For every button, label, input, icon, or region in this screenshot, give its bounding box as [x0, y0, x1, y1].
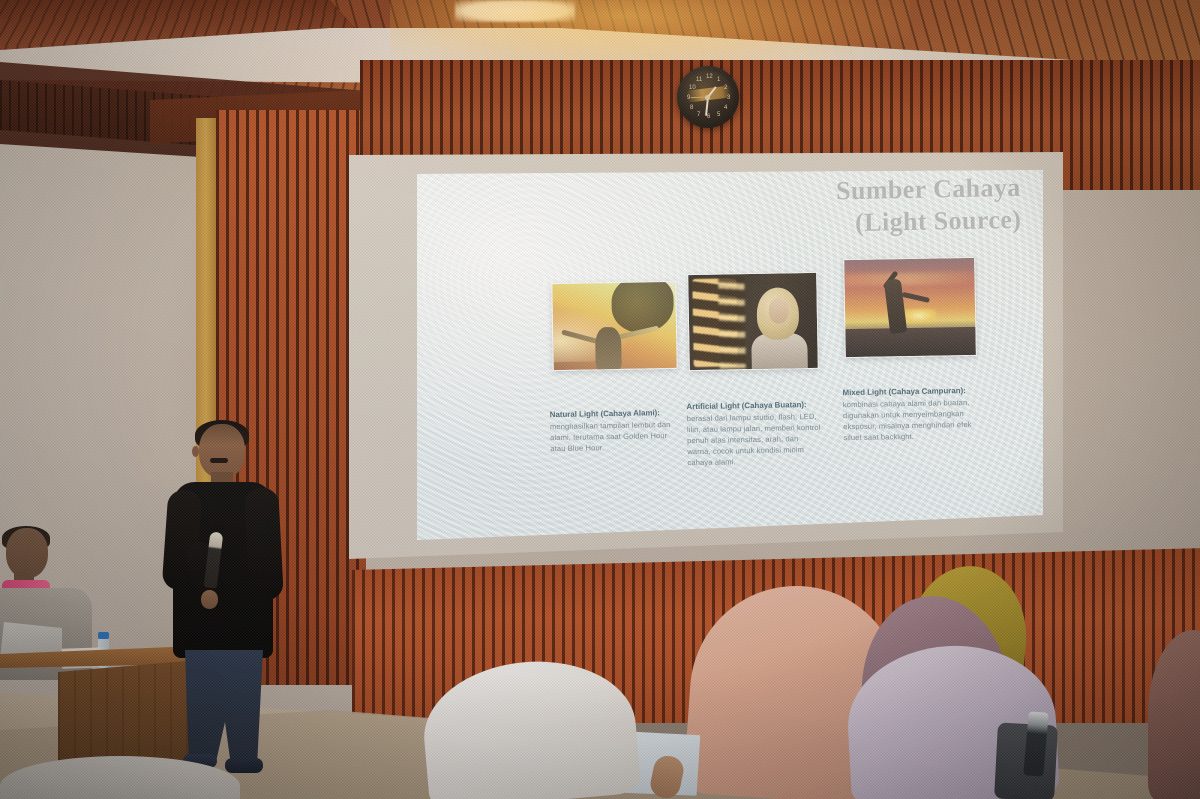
clock-numeral: 5: [717, 112, 720, 118]
clock-numeral: 4: [724, 105, 727, 111]
ceiling-light-fixture: [455, 0, 575, 22]
photo1-person: [595, 327, 622, 371]
clock-numeral: 11: [696, 77, 702, 83]
caption-body: menghasilkan tampilan lembut dan alami, …: [550, 420, 671, 453]
slide-caption-artificial-light: Artificial Light (Cahaya Buatan): berasa…: [686, 399, 821, 469]
caption-body: kombinasi cahaya alami dan buatan, digun…: [843, 398, 972, 442]
presenter-hand: [201, 590, 218, 609]
slide-caption-natural-light: Natural Light (Cahaya Alami): menghasilk…: [550, 407, 681, 455]
clock-numeral: 7: [697, 112, 700, 118]
seminar-room-photo: 12 1 2 3 4 5 6 7 8 9 10 11 Sumber Cahaya…: [0, 0, 1200, 799]
projection-screen: Sumber Cahaya (Light Source): [417, 170, 1043, 540]
photo3-sun: [902, 309, 936, 324]
slide-image-artificial-light: [687, 272, 819, 371]
slide-caption-mixed-light: Mixed Light (Cahaya Campuran): kombinasi…: [843, 385, 980, 444]
presenter-with-microphone: [163, 424, 285, 776]
caption-heading: Artificial Light (Cahaya Buatan):: [686, 399, 820, 413]
clock-numeral: 1: [717, 77, 720, 83]
presenter-jeans: [185, 650, 263, 766]
slide-image-mixed-light: [843, 257, 977, 358]
slide-title: Sumber Cahaya (Light Source): [690, 172, 1021, 242]
clock-numeral: 8: [690, 105, 693, 111]
presenter-head: [199, 424, 245, 478]
clock-center-pin: [705, 95, 710, 100]
seated-man-head: [6, 528, 48, 578]
slide-image-natural-light: [551, 281, 678, 371]
presenter-shoe-right: [225, 758, 263, 773]
presenter-ear: [192, 446, 199, 457]
caption-body: berasal dari lampu studio, flash, LED, l…: [687, 412, 821, 467]
caption-heading: Natural Light (Cahaya Alami):: [550, 407, 680, 421]
clock-numeral: 2: [724, 85, 727, 91]
clock-numeral: 6: [707, 114, 710, 120]
presenter-moustache: [210, 458, 228, 463]
water-bottle-cap: [98, 632, 109, 639]
clock-numeral: 10: [689, 85, 696, 91]
photo2-studio-lights-secondary: [718, 276, 746, 368]
clock-numeral: 3: [727, 95, 730, 101]
clock-numeral: 12: [706, 74, 713, 80]
photo2-model-face: [769, 297, 789, 323]
photo3-clouds: [844, 272, 974, 286]
slide-title-line-2: (Light Source): [691, 204, 1022, 242]
wall-clock: 12 1 2 3 4 5 6 7 8 9 10 11: [677, 66, 739, 128]
presenter-right-sleeve: [244, 487, 284, 601]
photo3-ground: [845, 327, 975, 357]
caption-heading: Mixed Light (Cahaya Campuran):: [843, 385, 979, 399]
